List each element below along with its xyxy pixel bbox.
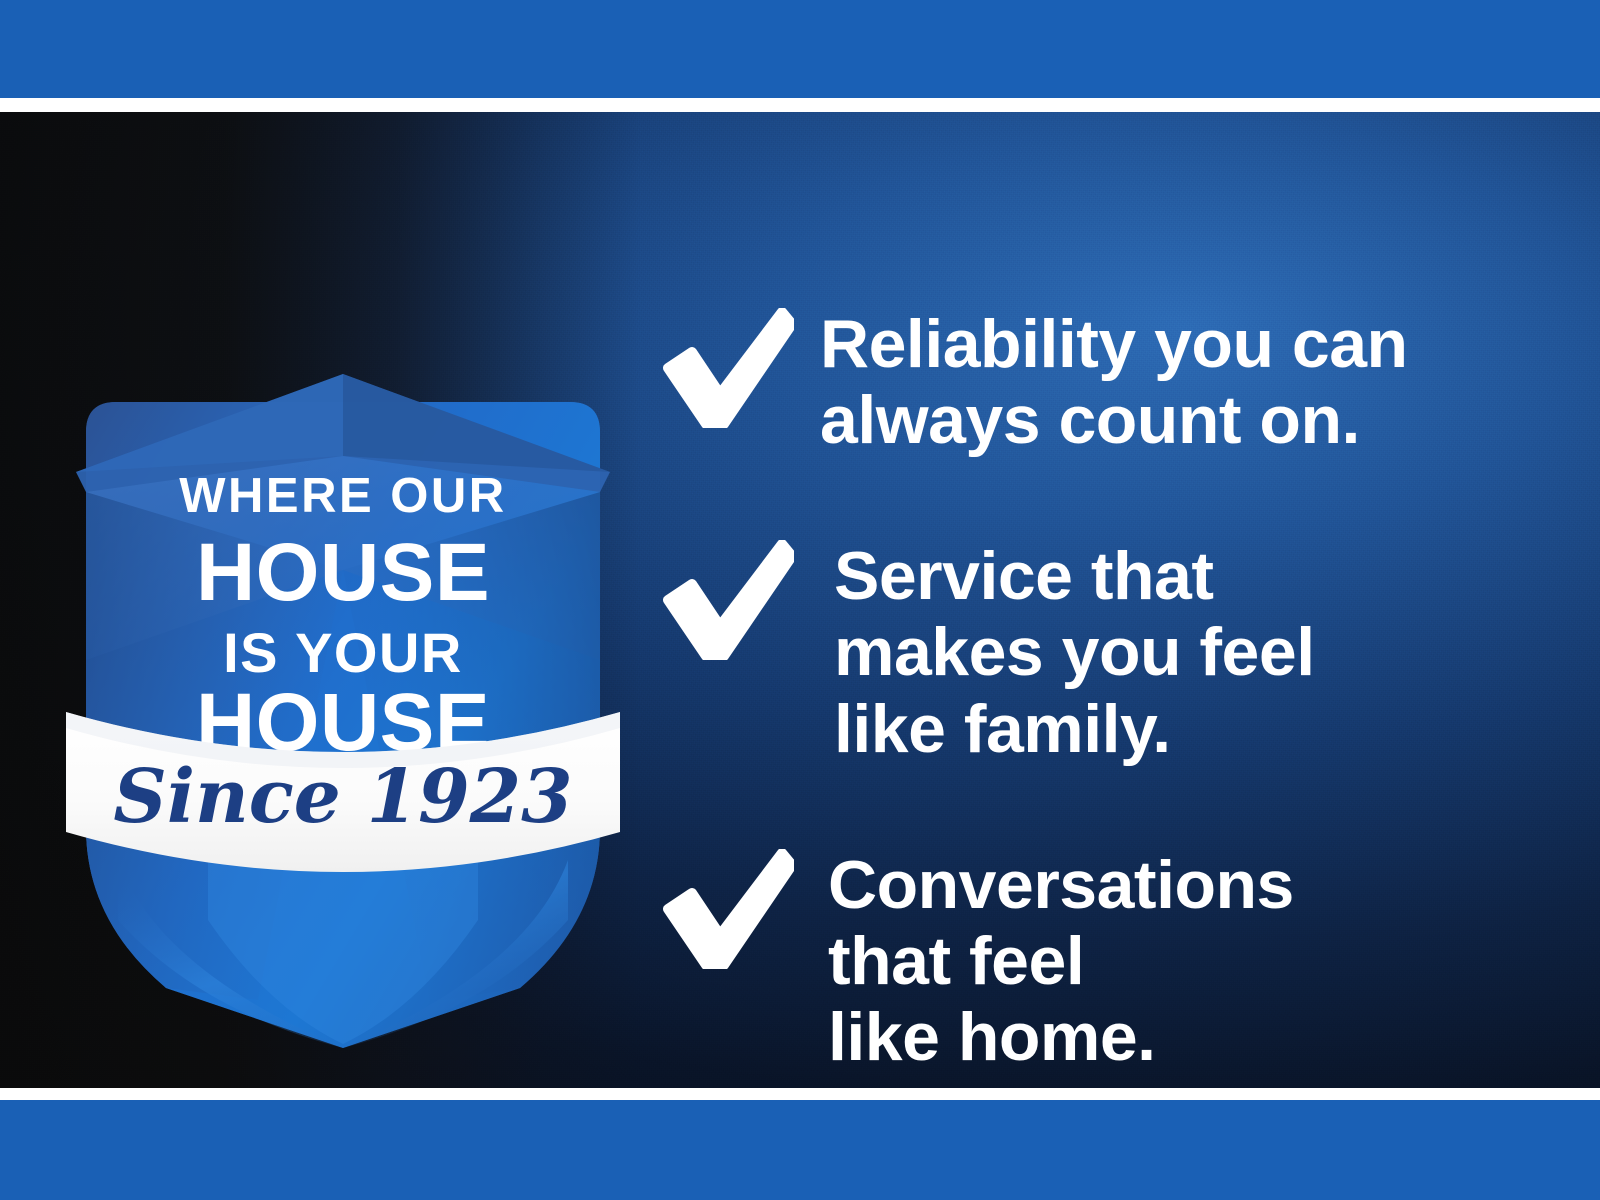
list-item: Service that makes you feel like family. xyxy=(662,534,1542,766)
top-brand-bar xyxy=(0,0,1600,98)
list-item: Conversations that feel like home. xyxy=(662,843,1542,1075)
promo-graphic-canvas: WHERE OUR HOUSE IS YOUR HOUSE Since 1923 xyxy=(0,0,1600,1200)
logo-line-3: IS YOUR xyxy=(223,621,463,684)
logo-line-2: HOUSE xyxy=(196,527,490,618)
brand-shield-logo: WHERE OUR HOUSE IS YOUR HOUSE Since 1923 xyxy=(58,360,628,1050)
bottom-brand-bar xyxy=(0,1100,1600,1200)
list-item-label: Service that makes you feel like family. xyxy=(834,534,1542,766)
main-dark-panel: WHERE OUR HOUSE IS YOUR HOUSE Since 1923 xyxy=(0,112,1600,1088)
ribbon-since-text: Since 1923 xyxy=(113,754,572,840)
list-item-label: Conversations that feel like home. xyxy=(828,843,1542,1075)
checkmark-icon xyxy=(662,849,794,969)
list-item: Reliability you can always count on. xyxy=(662,302,1542,458)
checkmark-icon xyxy=(662,540,794,660)
logo-line-1: WHERE OUR xyxy=(179,469,506,523)
checkmark-icon xyxy=(662,308,794,428)
list-item-label: Reliability you can always count on. xyxy=(820,302,1542,458)
benefits-list: Reliability you can always count on. Ser… xyxy=(662,302,1542,1075)
